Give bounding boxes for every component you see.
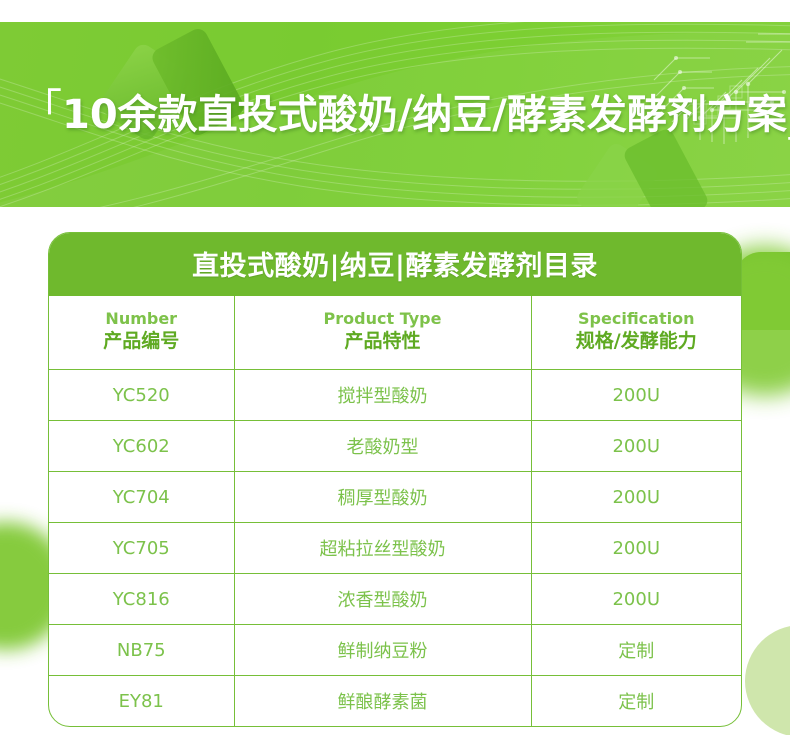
cell-product-type: 搅拌型酸奶 [234,370,531,421]
cell-product-code: YC704 [49,472,234,523]
cell-product-code: EY81 [49,676,234,727]
cell-product-type: 稠厚型酸奶 [234,472,531,523]
table-row: YC816 浓香型酸奶 200U [49,574,741,625]
table-header-row: Number 产品编号 Product Type 产品特性 Specificat… [49,296,741,370]
column-header-product-type: Product Type 产品特性 [234,296,531,370]
cell-product-type: 浓香型酸奶 [234,574,531,625]
cell-product-type: 老酸奶型 [234,421,531,472]
cell-product-type: 超粘拉丝型酸奶 [234,523,531,574]
banner-title-text: 10余款直投式酸奶/纳豆/酵素发酵剂方案 [62,93,787,137]
table-title-bar: 直投式酸奶|纳豆|酵素发酵剂目录 [49,233,741,296]
cell-product-code: NB75 [49,625,234,676]
column-header-number-en: Number [49,309,234,329]
cell-product-code: YC520 [49,370,234,421]
banner-title-group: 「 10余款直投式酸奶/纳豆/酵素发酵剂方案 」 [22,93,790,137]
decorative-rounded-rect-right [735,252,790,330]
cell-specification: 200U [531,472,741,523]
product-table: Number 产品编号 Product Type 产品特性 Specificat… [49,296,741,726]
cell-specification: 定制 [531,625,741,676]
cell-specification: 200U [531,523,741,574]
table-row: YC705 超粘拉丝型酸奶 200U [49,523,741,574]
table-row: YC602 老酸奶型 200U [49,421,741,472]
table-title: 直投式酸奶|纳豆|酵素发酵剂目录 [192,251,598,282]
product-catalog-card: 直投式酸奶|纳豆|酵素发酵剂目录 Number 产品编号 Product Typ… [48,232,742,727]
cell-specification: 200U [531,421,741,472]
table-row: NB75 鲜制纳豆粉 定制 [49,625,741,676]
column-header-product-type-en: Product Type [235,309,531,329]
table-row: EY81 鲜酿酵素菌 定制 [49,676,741,727]
cell-specification: 200U [531,574,741,625]
column-header-specification: Specification 规格/发酵能力 [531,296,741,370]
cell-product-type: 鲜制纳豆粉 [234,625,531,676]
table-row: YC520 搅拌型酸奶 200U [49,370,741,421]
column-header-specification-cn: 规格/发酵能力 [532,329,742,354]
cell-product-type: 鲜酿酵素菌 [234,676,531,727]
column-header-number: Number 产品编号 [49,296,234,370]
cell-product-code: YC705 [49,523,234,574]
decorative-circle-right-bottom [745,625,790,735]
hero-banner: 「 10余款直投式酸奶/纳豆/酵素发酵剂方案 」 [0,22,790,207]
cell-product-code: YC816 [49,574,234,625]
cell-specification: 定制 [531,676,741,727]
bracket-open-icon: 「 [22,89,62,129]
table-row: YC704 稠厚型酸奶 200U [49,472,741,523]
column-header-product-type-cn: 产品特性 [235,329,531,354]
cell-specification: 200U [531,370,741,421]
column-header-number-cn: 产品编号 [49,329,234,354]
column-header-specification-en: Specification [532,309,742,329]
cell-product-code: YC602 [49,421,234,472]
